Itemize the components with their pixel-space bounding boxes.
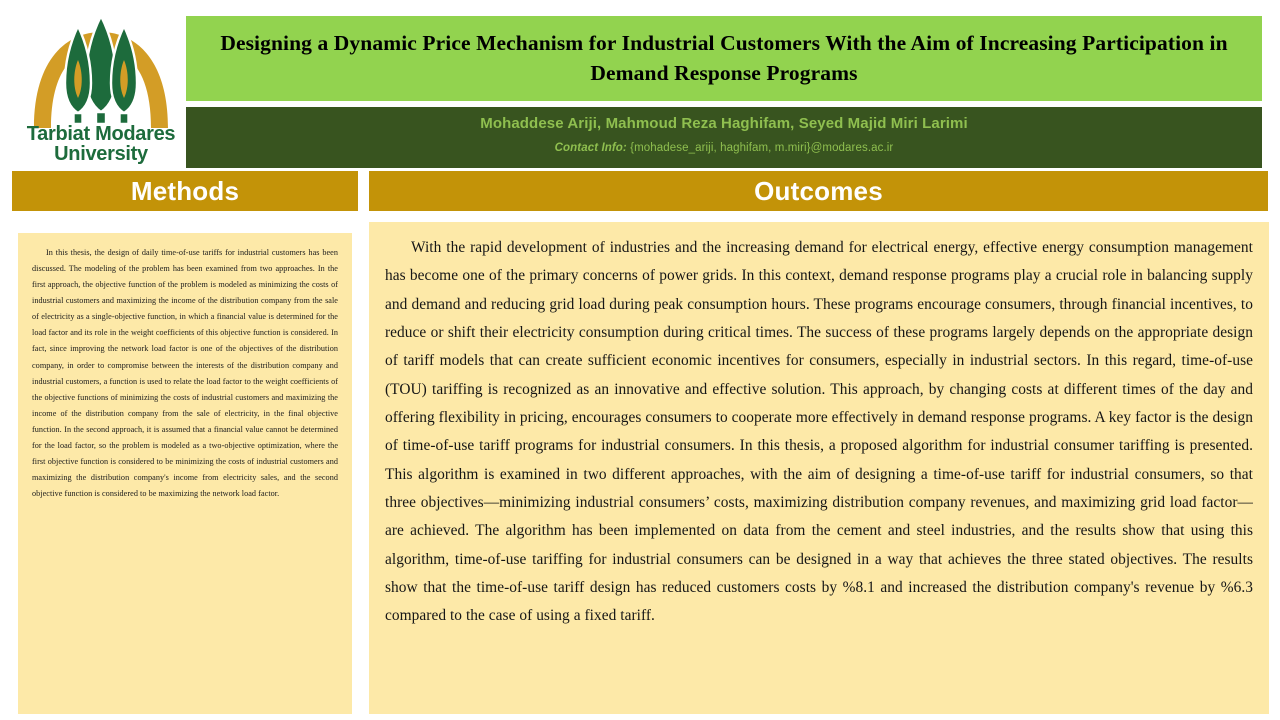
outcomes-panel: With the rapid development of industries… [369,222,1269,714]
outcomes-heading-label: Outcomes [754,176,883,207]
contact-info: Contact Info: {mohadese_ariji, haghifam,… [186,142,1262,154]
university-logo: Tarbiat Modares University [20,12,182,164]
outcomes-section-header: Outcomes [369,171,1268,211]
poster-author-bar: Mohaddese Ariji, Mahmoud Reza Haghifam, … [186,107,1262,168]
poster-title: Designing a Dynamic Price Mechanism for … [212,29,1236,87]
university-logo-text: Tarbiat Modares University [20,124,182,165]
methods-heading-label: Methods [131,176,239,207]
author-list: Mohaddese Ariji, Mahmoud Reza Haghifam, … [186,114,1262,134]
contact-info-value: {mohadese_ariji, haghifam, m.miri}@modar… [630,142,893,154]
university-logo-mark [20,12,182,130]
methods-panel: In this thesis, the design of daily time… [18,233,352,714]
methods-section-header: Methods [12,171,358,211]
university-name-line1: Tarbiat Modares [20,124,182,144]
poster-title-bar: Designing a Dynamic Price Mechanism for … [186,16,1262,101]
methods-body-text: In this thesis, the design of daily time… [32,245,338,502]
university-name-line2: University [20,144,182,164]
outcomes-body-text: With the rapid development of industries… [385,234,1253,631]
contact-info-label: Contact Info: [555,142,627,154]
